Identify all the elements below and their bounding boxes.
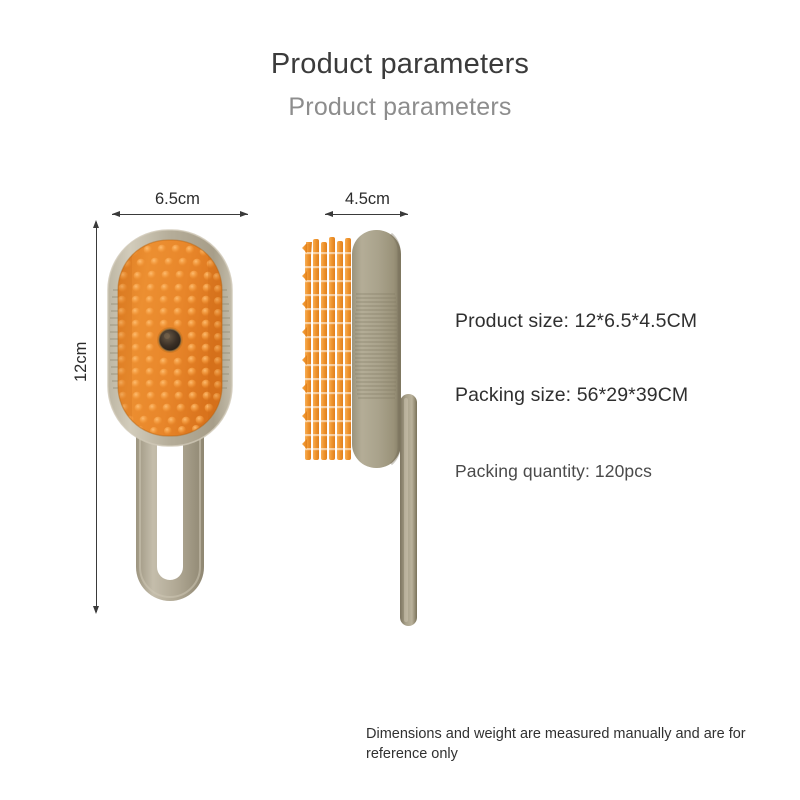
steam-nozzle [157,327,183,353]
handle-side [400,394,417,626]
product-image-front-view [100,222,260,622]
page-subtitle: Product parameters [0,93,800,122]
dimension-line-side-width [325,214,408,215]
side-comb-ridges [355,294,397,398]
product-image-side-view [296,222,431,632]
footnote-disclaimer: Dimensions and weight are measured manua… [366,724,786,764]
product-parameter-sheet: Product parameters Product parameters 6.… [0,0,800,800]
dimension-label-side-width: 4.5cm [345,190,390,209]
page-title: Product parameters [0,48,800,81]
arrow-right-front-width [240,211,248,217]
dimension-label-height: 12cm [72,342,91,382]
brush-body-side [352,230,401,468]
spec-product-size: Product size: 12*6.5*4.5CM [455,310,697,333]
spec-packing-size: Packing size: 56*29*39CM [455,384,688,407]
dimension-label-front-width: 6.5cm [155,190,200,209]
dimension-line-height [96,222,97,612]
arrow-up-height [93,220,99,228]
spec-packing-quantity: Packing quantity: 120pcs [455,461,652,482]
arrow-right-side-width [400,211,408,217]
arrow-left-front-width [112,211,120,217]
arrow-down-height [93,606,99,614]
dimension-line-front-width [112,214,248,215]
arrow-left-side-width [325,211,333,217]
